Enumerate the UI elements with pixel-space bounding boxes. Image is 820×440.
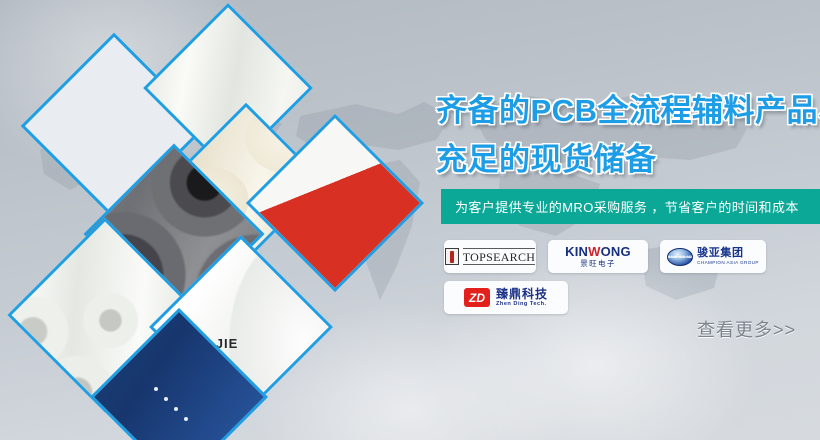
kinwong-label-w: W — [588, 244, 600, 259]
client-logo-list: TOPSEARCH KINWONG 景旺电子 CHAMPION ASIA 骏亚集… — [444, 240, 820, 322]
kinwong-wordmark-icon: KINWONG — [565, 245, 631, 258]
client-logo-row-2: ZD 臻鼎科技 Zhen Ding Tech. — [444, 281, 820, 314]
client-logo-kinwong-cn: 景旺电子 — [565, 260, 631, 268]
zd-monogram-icon: ZD — [464, 288, 490, 307]
kinwong-label-b: ONG — [601, 244, 631, 259]
client-logo-topsearch[interactable]: TOPSEARCH — [444, 240, 536, 273]
client-logo-zhen-ding-cn: 臻鼎科技 — [496, 288, 548, 300]
product-photo-collage: JIE — [0, 0, 430, 440]
kinwong-label-a: KIN — [565, 244, 588, 259]
headline-line-1: 齐备的PCB全流程辅料产品、 — [436, 93, 820, 128]
client-logo-zhen-ding-en: Zhen Ding Tech. — [496, 302, 548, 308]
headline: 齐备的PCB全流程辅料产品、 充足的现货储备 — [436, 86, 820, 184]
client-logo-champion-asia-en: CHAMPION ASIA GROUP — [697, 261, 759, 266]
promo-banner: JIE 齐备的PCB全流程辅料产品、 充足的现货储备 为客户提供专业的MRO采购… — [0, 0, 820, 440]
client-logo-row-1: TOPSEARCH KINWONG 景旺电子 CHAMPION ASIA 骏亚集… — [444, 240, 820, 273]
subtitle-bar: 为客户提供专业的MRO采购服务 ，节省客户的时间和成本 — [441, 189, 820, 224]
client-logo-champion-asia[interactable]: CHAMPION ASIA 骏亚集团 CHAMPION ASIA GROUP — [660, 240, 766, 273]
client-logo-kinwong[interactable]: KINWONG 景旺电子 — [548, 240, 648, 273]
client-logo-champion-asia-cn: 骏亚集团 — [697, 248, 759, 259]
globe-icon: CHAMPION ASIA — [667, 248, 693, 266]
view-more-link[interactable]: 查看更多>> — [697, 316, 796, 342]
subtitle-text: 为客户提供专业的MRO采购服务 ，节省客户的时间和成本 — [441, 197, 799, 216]
globe-icon-text: CHAMPION ASIA — [667, 255, 693, 259]
i-box-icon — [445, 248, 459, 265]
client-logo-topsearch-label: TOPSEARCH — [463, 248, 536, 265]
client-logo-zhen-ding[interactable]: ZD 臻鼎科技 Zhen Ding Tech. — [444, 281, 568, 314]
headline-line-2: 充足的现货储备 — [436, 135, 820, 184]
banner-content: 齐备的PCB全流程辅料产品、 充足的现货储备 为客户提供专业的MRO采购服务 ，… — [430, 0, 820, 440]
